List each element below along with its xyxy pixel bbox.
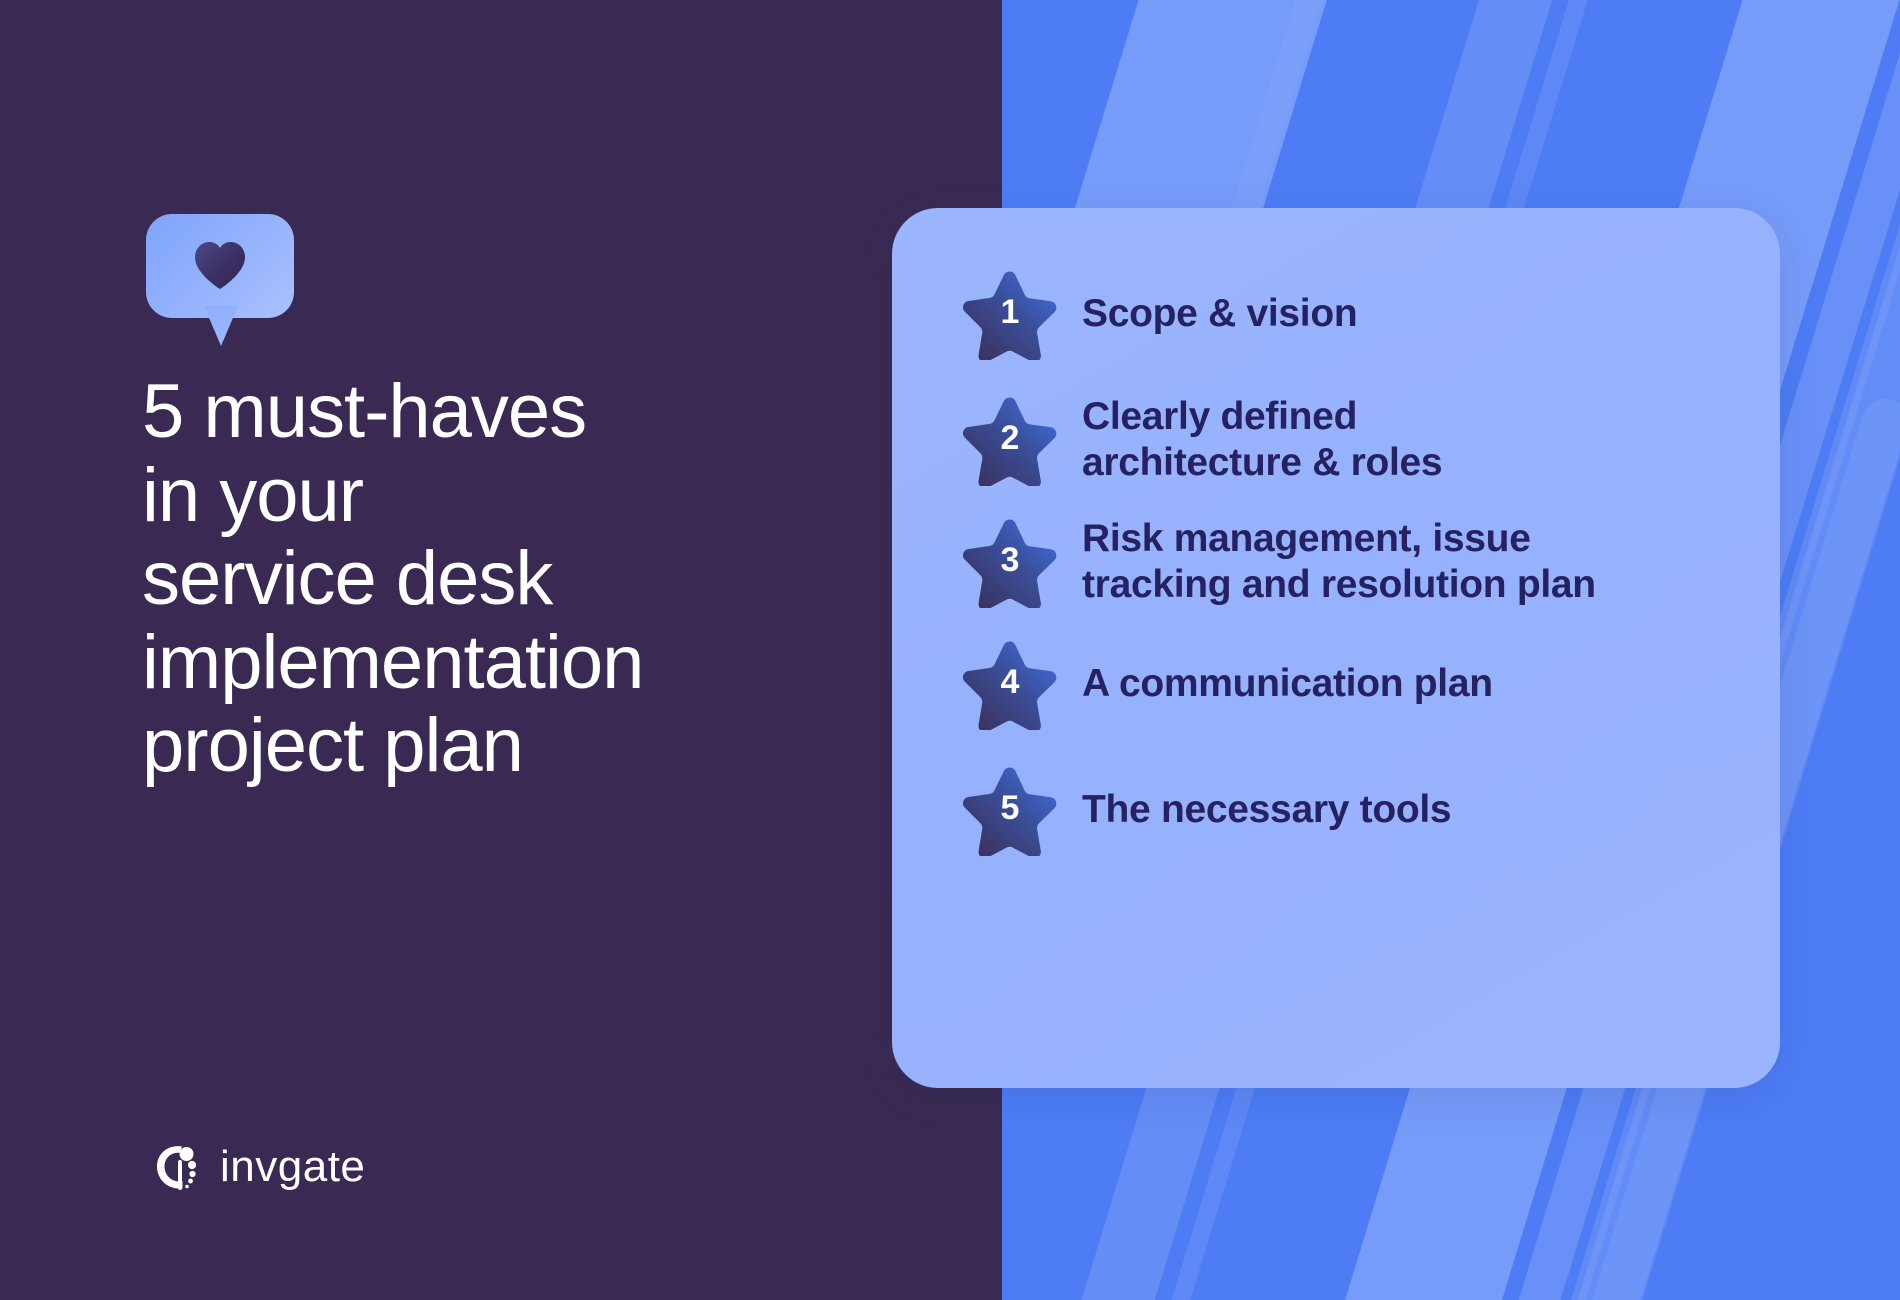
list-item[interactable]: 5 The necessary tools: [962, 764, 1740, 856]
invgate-spiral-icon: [152, 1140, 204, 1194]
invgate-logo: invgate: [152, 1140, 365, 1194]
list-item[interactable]: 3 Risk management, issue tracking and re…: [962, 516, 1740, 608]
speech-bubble-tail: [204, 306, 238, 346]
headline-line-1: 5 must-haves: [142, 370, 902, 454]
star-number: 4: [962, 638, 1058, 730]
star-number: 1: [962, 268, 1058, 360]
list-item-line-1: A communication plan: [1082, 662, 1493, 705]
headline-line-2: in your: [142, 454, 902, 538]
checklist-card: 1 Scope & vision 2 Clearly defined archi…: [892, 208, 1780, 1088]
list-item-label: A communication plan: [1082, 661, 1493, 707]
list-item-line-1: The necessary tools: [1082, 788, 1451, 831]
list-item[interactable]: 2 Clearly defined architecture & roles: [962, 394, 1740, 486]
invgate-wordmark: invgate: [220, 1142, 365, 1192]
headline-line-4: implementation: [142, 621, 902, 705]
list-item-line-1: Scope & vision: [1082, 292, 1357, 335]
list-item-line-1: Risk management, issue: [1082, 516, 1596, 562]
heart-speech-bubble-icon: [146, 214, 294, 342]
infographic-canvas: 5 must-haves in your service desk implem…: [0, 0, 1900, 1300]
star-badge-icon: 3: [962, 516, 1058, 608]
star-badge-icon: 4: [962, 638, 1058, 730]
left-panel: 5 must-haves in your service desk implem…: [0, 0, 1002, 1300]
star-number: 2: [962, 394, 1058, 486]
list-item-line-2: architecture & roles: [1082, 440, 1442, 486]
list-item-label: Risk management, issue tracking and reso…: [1082, 516, 1596, 608]
headline-line-3: service desk: [142, 537, 902, 621]
list-item[interactable]: 1 Scope & vision: [962, 268, 1740, 360]
heart-icon: [193, 240, 247, 290]
star-badge-icon: 2: [962, 394, 1058, 486]
list-item[interactable]: 4 A communication plan: [962, 638, 1740, 730]
list-item-line-2: tracking and resolution plan: [1082, 562, 1596, 608]
list-item-line-1: Clearly defined: [1082, 394, 1442, 440]
list-item-label: Scope & vision: [1082, 291, 1357, 337]
star-badge-icon: 1: [962, 268, 1058, 360]
list-item-label: Clearly defined architecture & roles: [1082, 394, 1442, 486]
checklist: 1 Scope & vision 2 Clearly defined archi…: [962, 268, 1740, 856]
list-item-label: The necessary tools: [1082, 787, 1451, 833]
headline-line-5: project plan: [142, 704, 902, 788]
page-title: 5 must-haves in your service desk implem…: [142, 370, 902, 788]
star-number: 3: [962, 516, 1058, 608]
star-badge-icon: 5: [962, 764, 1058, 856]
star-number: 5: [962, 764, 1058, 856]
